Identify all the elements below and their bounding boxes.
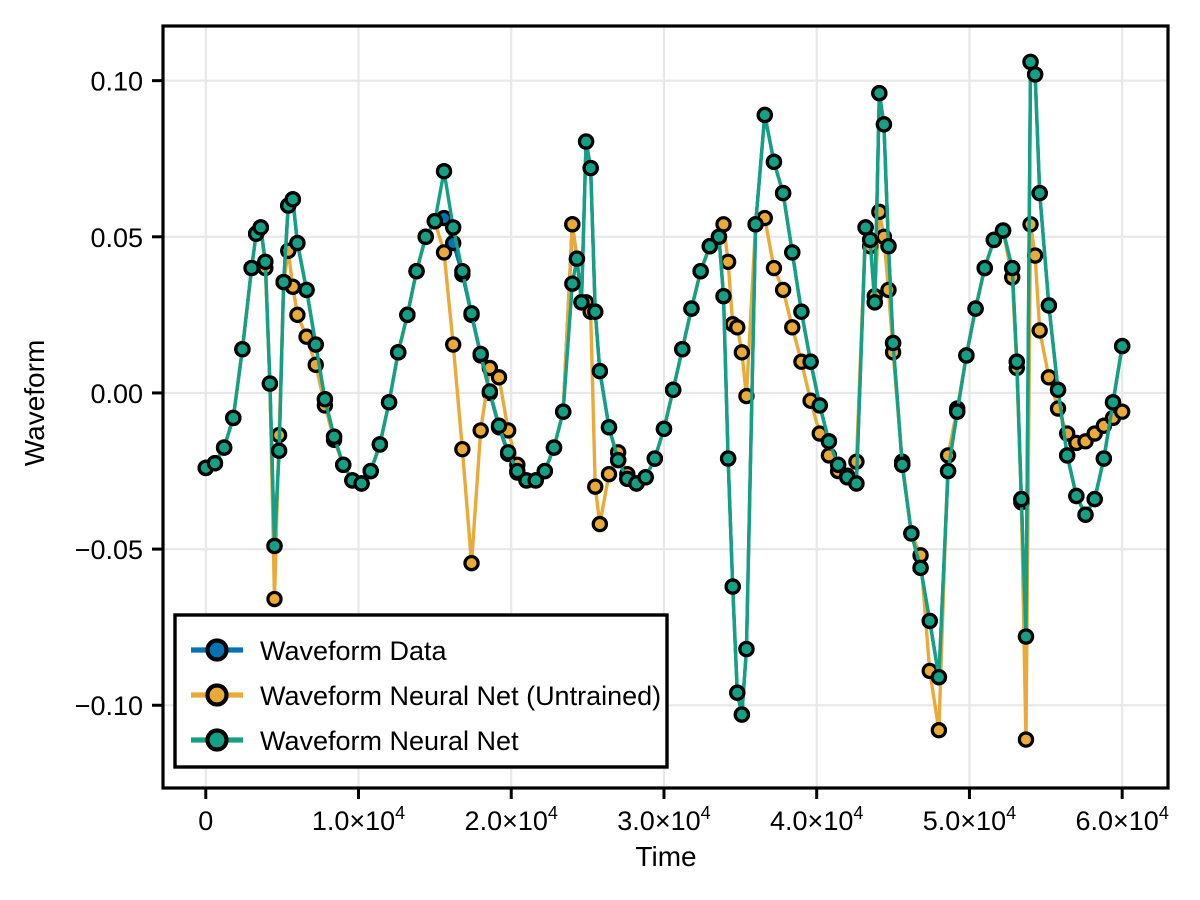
- data-point: [566, 277, 579, 290]
- data-point: [474, 347, 487, 360]
- data-point: [941, 464, 954, 477]
- data-point: [502, 446, 515, 459]
- data-point: [804, 355, 817, 368]
- data-point: [923, 614, 936, 627]
- data-point: [492, 419, 505, 432]
- data-point: [584, 161, 597, 174]
- data-point: [1019, 630, 1032, 643]
- x-tick-label: 3.0×104: [617, 803, 710, 836]
- data-point: [291, 308, 304, 321]
- data-point: [978, 261, 991, 274]
- data-point: [786, 321, 799, 334]
- y-axis-title: Waveform: [19, 340, 50, 467]
- data-point: [259, 255, 272, 268]
- data-point: [309, 338, 322, 351]
- data-point: [717, 290, 730, 303]
- data-point: [676, 343, 689, 356]
- data-point: [767, 155, 780, 168]
- legend-label: Waveform Data: [260, 636, 448, 666]
- data-point: [886, 336, 899, 349]
- data-point: [731, 321, 744, 334]
- data-point: [254, 221, 267, 234]
- data-point: [749, 218, 762, 231]
- data-point: [969, 302, 982, 315]
- data-point: [437, 246, 450, 259]
- data-point: [575, 296, 588, 309]
- data-point: [685, 302, 698, 315]
- data-point: [1061, 449, 1074, 462]
- y-tick-label: −0.10: [75, 691, 143, 721]
- data-point: [612, 453, 625, 466]
- data-point: [896, 458, 909, 471]
- legend-item-1[interactable]: Waveform Neural Net (Untrained): [191, 681, 661, 711]
- data-point: [373, 438, 386, 451]
- data-point: [1106, 396, 1119, 409]
- data-point: [1042, 299, 1055, 312]
- data-point: [786, 246, 799, 259]
- data-point: [657, 422, 670, 435]
- y-tick-label: 0.00: [90, 379, 143, 409]
- data-point: [996, 224, 1009, 237]
- data-point: [355, 477, 368, 490]
- data-point: [932, 671, 945, 684]
- data-point: [456, 265, 469, 278]
- data-point: [456, 443, 469, 456]
- data-point: [593, 364, 606, 377]
- data-point: [272, 444, 285, 457]
- data-point: [208, 457, 221, 470]
- data-point: [428, 215, 441, 228]
- data-point: [740, 642, 753, 655]
- data-point: [648, 452, 661, 465]
- data-point: [557, 405, 570, 418]
- data-point: [831, 458, 844, 471]
- legend-label: Waveform Neural Net (Untrained): [260, 681, 661, 711]
- data-point: [726, 580, 739, 593]
- data-point: [735, 708, 748, 721]
- data-point: [822, 435, 835, 448]
- data-point: [864, 233, 877, 246]
- legend-marker: [208, 686, 227, 705]
- data-point: [667, 383, 680, 396]
- data-point: [1019, 733, 1032, 746]
- x-tick-label: 6.0×104: [1075, 803, 1168, 836]
- data-point: [268, 592, 281, 605]
- data-point: [777, 283, 790, 296]
- data-point: [382, 396, 395, 409]
- x-axis-title: Time: [635, 841, 696, 872]
- x-tick-label: 5.0×104: [923, 803, 1016, 836]
- data-point: [712, 230, 725, 243]
- data-point: [777, 186, 790, 199]
- data-point: [722, 255, 735, 268]
- y-tick-label: −0.05: [75, 535, 143, 565]
- data-point: [437, 165, 450, 178]
- legend-label: Waveform Neural Net: [260, 726, 519, 756]
- data-point: [1097, 452, 1110, 465]
- data-point: [318, 393, 331, 406]
- data-point: [547, 441, 560, 454]
- data-point: [868, 296, 881, 309]
- data-point: [694, 265, 707, 278]
- data-point: [263, 377, 276, 390]
- x-tick-label: 4.0×104: [770, 803, 863, 836]
- data-point: [217, 441, 230, 454]
- legend-marker: [208, 641, 227, 660]
- data-point: [767, 261, 780, 274]
- data-point: [579, 135, 592, 148]
- data-point: [873, 205, 886, 218]
- data-point: [392, 346, 405, 359]
- y-tick-label: 0.05: [90, 223, 143, 253]
- data-point: [735, 346, 748, 359]
- data-point: [882, 283, 895, 296]
- data-point: [447, 338, 460, 351]
- data-point: [589, 480, 602, 493]
- data-point: [905, 527, 918, 540]
- data-point: [327, 430, 340, 443]
- data-point: [364, 464, 377, 477]
- data-point: [447, 221, 460, 234]
- data-point: [465, 557, 478, 570]
- data-point: [722, 452, 735, 465]
- data-point: [419, 230, 432, 243]
- y-tick-label: 0.10: [90, 67, 143, 97]
- data-point: [245, 261, 258, 274]
- data-point: [570, 252, 583, 265]
- data-point: [268, 539, 281, 552]
- data-point: [873, 87, 886, 100]
- data-point: [795, 305, 808, 318]
- data-point: [1033, 324, 1046, 337]
- data-point: [1051, 383, 1064, 396]
- data-point: [1079, 508, 1092, 521]
- data-point: [602, 468, 615, 481]
- data-point: [474, 424, 487, 437]
- data-point: [483, 385, 496, 398]
- x-tick-label: 1.0×104: [312, 803, 405, 836]
- data-point: [960, 349, 973, 362]
- data-point: [227, 411, 240, 424]
- data-point: [236, 343, 249, 356]
- data-point: [813, 399, 826, 412]
- data-point: [1015, 493, 1028, 506]
- data-point: [300, 283, 313, 296]
- data-point: [401, 308, 414, 321]
- data-point: [291, 236, 304, 249]
- data-point: [1006, 261, 1019, 274]
- data-point: [593, 518, 606, 531]
- data-point: [932, 724, 945, 737]
- legend-marker: [208, 731, 227, 750]
- data-point: [1088, 493, 1101, 506]
- data-point: [882, 240, 895, 253]
- data-point: [1033, 186, 1046, 199]
- data-point: [1070, 489, 1083, 502]
- data-point: [602, 421, 615, 434]
- data-point: [277, 275, 290, 288]
- chart-page: 01.0×1042.0×1043.0×1044.0×1045.0×1046.0×…: [0, 0, 1200, 900]
- x-tick-label: 0: [198, 806, 213, 836]
- data-point: [1042, 371, 1055, 384]
- data-point: [1029, 68, 1042, 81]
- data-point: [951, 405, 964, 418]
- data-point: [877, 118, 890, 131]
- data-point: [639, 471, 652, 484]
- data-point: [914, 561, 927, 574]
- data-point: [758, 108, 771, 121]
- data-point: [589, 305, 602, 318]
- data-point: [538, 464, 551, 477]
- data-point: [1116, 340, 1129, 353]
- data-point: [286, 193, 299, 206]
- data-point: [465, 307, 478, 320]
- data-point: [850, 477, 863, 490]
- x-tick-label: 2.0×104: [465, 803, 558, 836]
- data-point: [731, 686, 744, 699]
- waveform-chart: 01.0×1042.0×1043.0×1044.0×1045.0×1046.0×…: [0, 0, 1200, 900]
- data-point: [1010, 355, 1023, 368]
- data-point: [566, 218, 579, 231]
- data-point: [492, 371, 505, 384]
- data-point: [337, 458, 350, 471]
- data-point: [410, 265, 423, 278]
- chart-legend[interactable]: Waveform DataWaveform Neural Net (Untrai…: [175, 615, 667, 767]
